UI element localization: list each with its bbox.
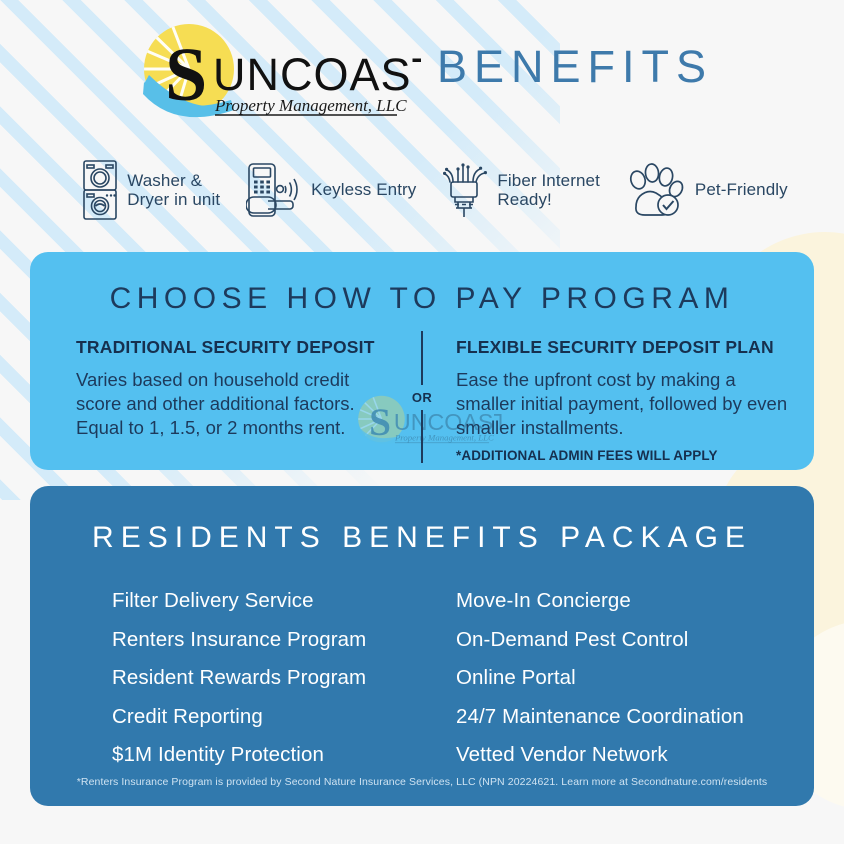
suncoast-logo: S UNCOAST Property Management, LLC xyxy=(131,18,421,120)
amenity-washer-dryer: Washer & Dryer in unit xyxy=(80,159,220,221)
pet-paw-icon xyxy=(626,162,688,218)
list-item: Vetted Vendor Network xyxy=(456,745,788,766)
page-header: S UNCOAST Property Management, LLC BENEF… xyxy=(0,16,844,122)
amenity-keyless-entry: Keyless Entry xyxy=(246,161,416,219)
list-item: 24/7 Maintenance Coordination xyxy=(456,707,788,728)
residents-benefits-panel: RESIDENTS BENEFITS PACKAGE Filter Delive… xyxy=(30,486,814,806)
residents-package-title: RESIDENTS BENEFITS PACKAGE xyxy=(56,521,788,555)
svg-text:Property Management, LLC: Property Management, LLC xyxy=(214,96,407,115)
or-divider: OR xyxy=(402,331,442,463)
pay-option-body: Ease the upfront cost by making a smalle… xyxy=(456,368,788,440)
list-item: Online Portal xyxy=(456,668,788,689)
amenity-pet-friendly: Pet-Friendly xyxy=(626,162,788,218)
benefits-column-right: Move-In Concierge On-Demand Pest Control… xyxy=(422,591,788,784)
renters-insurance-footnote: *Renters Insurance Program is provided b… xyxy=(30,776,814,788)
amenity-label: Fiber Internet Ready! xyxy=(497,171,600,209)
pay-program-title: CHOOSE HOW TO PAY PROGRAM xyxy=(56,282,788,316)
keyless-entry-icon xyxy=(246,161,304,219)
benefits-flyer: S UNCOAST Property Management, LLC BENEF… xyxy=(0,0,844,844)
list-item: On-Demand Pest Control xyxy=(456,630,788,651)
suncoast-logo-svg: S UNCOAST Property Management, LLC xyxy=(131,18,421,120)
amenity-label: Keyless Entry xyxy=(311,180,416,199)
pay-options: TRADITIONAL SECURITY DEPOSIT Varies base… xyxy=(56,337,788,463)
pay-option-traditional: TRADITIONAL SECURITY DEPOSIT Varies base… xyxy=(56,337,422,463)
amenity-label: Pet-Friendly xyxy=(695,180,788,199)
pay-option-heading: FLEXIBLE SECURITY DEPOSIT PLAN xyxy=(456,337,788,358)
choose-how-to-pay-panel: CHOOSE HOW TO PAY PROGRAM TRADITIONAL SE… xyxy=(30,252,814,470)
amenities-row: Washer & Dryer in unit xyxy=(0,150,844,230)
amenity-fiber-internet: Fiber Internet Ready! xyxy=(442,160,600,220)
fiber-internet-icon xyxy=(442,160,490,220)
benefits-column-left: Filter Delivery Service Renters Insuranc… xyxy=(56,591,422,784)
or-label: OR xyxy=(412,385,432,410)
residents-benefits-list: Filter Delivery Service Renters Insuranc… xyxy=(56,591,788,784)
divider-line-bottom xyxy=(421,410,423,464)
list-item: Credit Reporting xyxy=(112,707,422,728)
pay-option-heading: TRADITIONAL SECURITY DEPOSIT xyxy=(56,337,388,358)
svg-text:UNCOAST: UNCOAST xyxy=(213,49,421,100)
list-item: Filter Delivery Service xyxy=(112,591,422,612)
amenity-label: Washer & Dryer in unit xyxy=(127,171,220,209)
page-title: BENEFITS xyxy=(437,41,713,93)
svg-text:S: S xyxy=(165,33,207,117)
list-item: Resident Rewards Program xyxy=(112,668,422,689)
pay-option-flexible: FLEXIBLE SECURITY DEPOSIT PLAN Ease the … xyxy=(422,337,788,463)
list-item: $1M Identity Protection xyxy=(112,745,422,766)
washer-dryer-icon xyxy=(80,159,120,221)
list-item: Renters Insurance Program xyxy=(112,630,422,651)
list-item: Move-In Concierge xyxy=(456,591,788,612)
pay-option-body: Varies based on household credit score a… xyxy=(56,368,388,440)
pay-option-note: *ADDITIONAL ADMIN FEES WILL APPLY xyxy=(456,448,788,463)
divider-line-top xyxy=(421,331,423,385)
